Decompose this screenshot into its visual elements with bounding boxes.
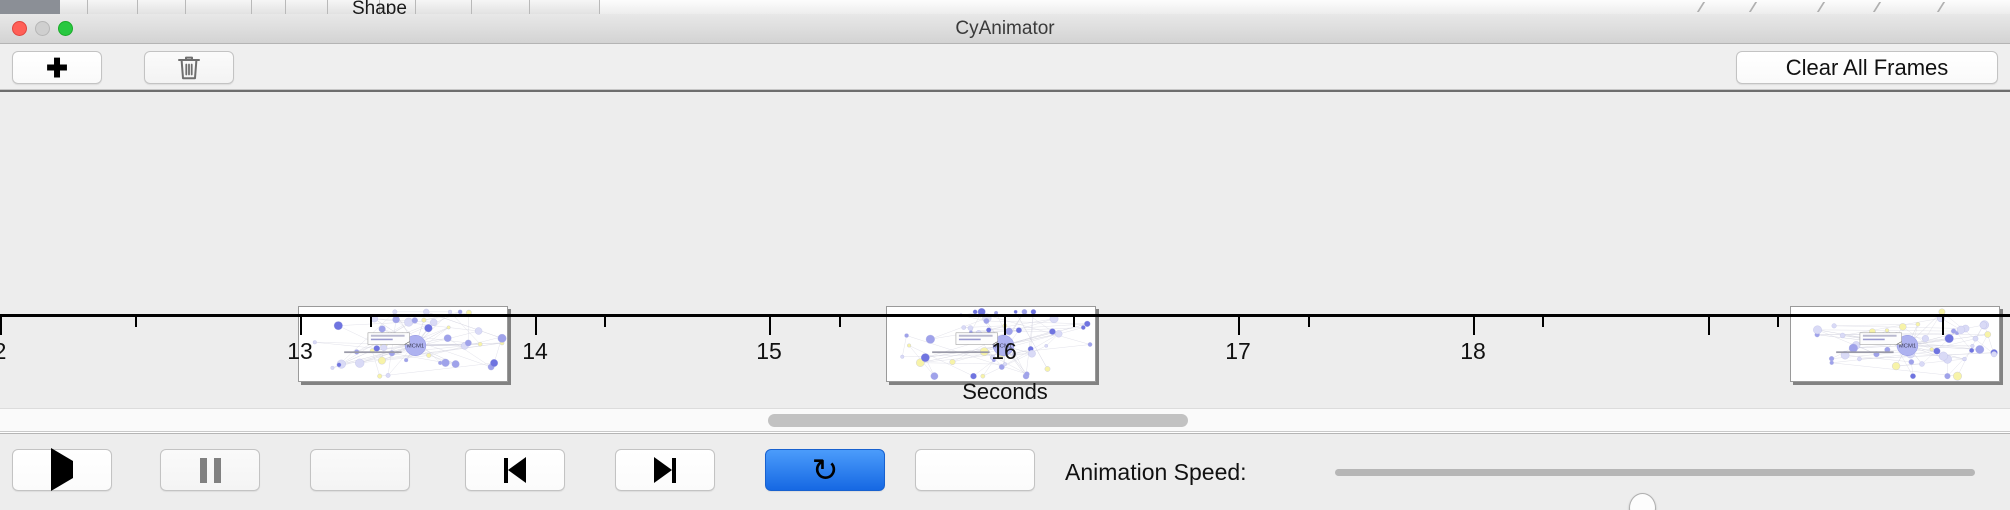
axis-tick-minor [135,317,137,327]
background-window-fragment [186,0,252,14]
add-frame-button[interactable]: ✚ [12,51,102,84]
skip-end-button[interactable] [615,449,715,491]
axis-tick-label: 15 [756,338,782,365]
axis-tick-major [300,317,302,335]
axis-tick-label: 2 [0,338,6,365]
axis-tick-label: 14 [522,338,548,365]
scrollbar-thumb[interactable] [768,414,1188,427]
clear-all-frames-button[interactable]: Clear All Frames [1736,51,1998,84]
skip-end-icon [654,457,676,483]
background-window-fragment [416,0,472,14]
pause-icon [200,458,221,483]
background-window-fragment [1937,2,1959,12]
background-window-fragment [138,0,186,14]
cyanimator-window: Shape CyAnimator ✚ Clear All Frames MCM1… [0,0,2010,510]
play-button[interactable] [12,449,112,491]
axis-tick-major [535,317,537,335]
axis-tick-minor [604,317,606,327]
axis-title: Seconds [0,379,2010,405]
background-window-fragment [472,0,530,14]
background-window-fragment [1697,2,1719,12]
axis-tick-label: 13 [287,338,313,365]
background-window-fragment [60,0,88,14]
axis-tick-label: 16 [991,338,1017,365]
axis-tick-major [1942,317,1944,335]
trash-icon [177,54,201,81]
background-window-fragment [252,0,286,14]
playback-control-bar: ↻ Animation Speed: [0,433,2010,510]
title-bar: CyAnimator [0,14,2010,44]
axis-tick-label: 18 [1460,338,1486,365]
background-windows-strip: Shape [0,0,2010,14]
loop-button[interactable]: ↻ [765,449,885,491]
background-window-fragment [1749,2,1771,12]
background-window-fragment [0,0,60,14]
background-window-fragment [530,0,600,14]
keyframe-3[interactable]: MCM1 [1790,306,2000,382]
background-window-fragment [88,0,138,14]
animation-speed-slider[interactable] [1335,469,1975,476]
axis-tick-major [769,317,771,335]
background-window-fragment [1873,2,1895,12]
axis-tick-minor [839,317,841,327]
animation-speed-slider-thumb[interactable] [1629,493,1656,510]
background-window-fragment [1817,2,1839,12]
background-window-fragment [286,0,328,14]
record-button[interactable] [915,449,1035,491]
pause-button [160,449,260,491]
delete-frame-button[interactable] [144,51,234,84]
axis-tick-minor [1073,317,1075,327]
timeline-panel[interactable]: MCM1MCM1MCM1 2131415161718 Seconds [0,90,2010,408]
window-title: CyAnimator [0,14,2010,44]
axis-tick-minor [1542,317,1544,327]
plus-icon: ✚ [46,55,68,81]
keyframe-1[interactable]: MCM1 [298,306,508,382]
axis-tick-minor [1777,317,1779,327]
axis-tick-major [1708,317,1710,335]
play-icon [51,461,73,479]
axis-tick-major [0,317,2,335]
toolbar: ✚ Clear All Frames [0,44,2010,90]
loop-icon: ↻ [812,454,839,486]
axis-tick-label: 17 [1225,338,1251,365]
skip-start-icon [504,457,526,483]
axis-tick-major [1004,317,1006,335]
animation-speed-label: Animation Speed: [1065,459,1247,486]
stop-button [310,449,410,491]
axis-tick-major [1473,317,1475,335]
axis-tick-major [1238,317,1240,335]
axis-tick-minor [370,317,372,327]
skip-start-button[interactable] [465,449,565,491]
background-window-label: Shape [352,0,407,14]
timeline-scrollbar[interactable] [0,408,2010,432]
axis-tick-minor [1308,317,1310,327]
